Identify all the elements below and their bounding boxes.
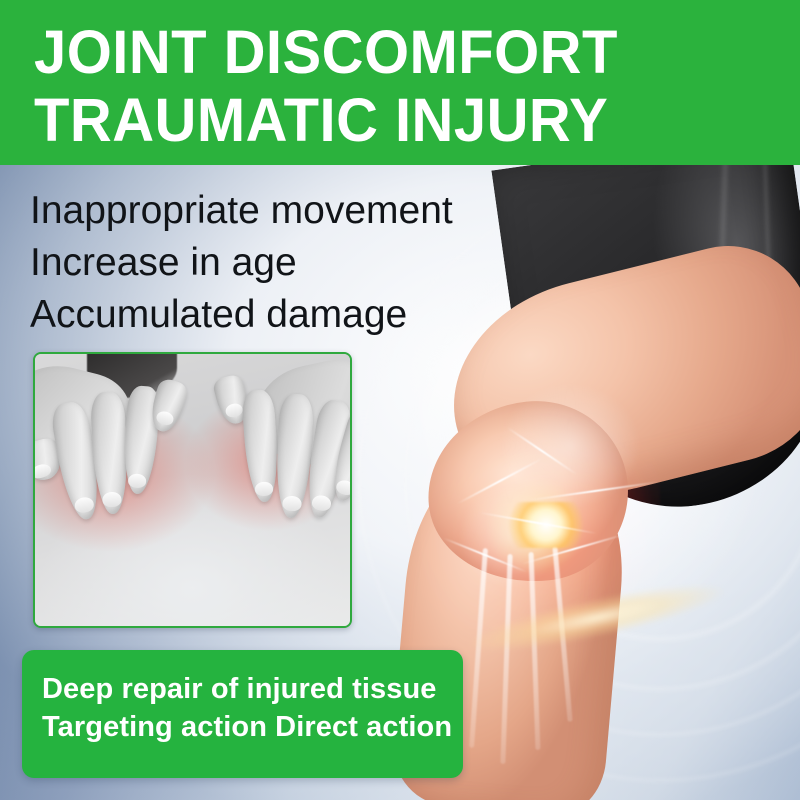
header-banner: JOINT DISCOMFORT TRAUMATIC INJURY bbox=[0, 0, 800, 165]
fingernail bbox=[128, 473, 147, 488]
benefit-line-2: Targeting action Direct action bbox=[42, 713, 452, 742]
fingernail bbox=[155, 410, 175, 427]
cause-list-item: Accumulated damage bbox=[30, 289, 550, 341]
inset-photo-frame bbox=[33, 352, 352, 628]
benefit-line-1: Deep repair of injured tissue bbox=[42, 675, 437, 704]
fingernail bbox=[335, 478, 352, 496]
cause-list: Inappropriate movement Increase in age A… bbox=[30, 185, 550, 341]
benefit-callout-box: Deep repair of injured tissue Targeting … bbox=[22, 650, 463, 778]
fingernail bbox=[74, 496, 95, 514]
finger bbox=[274, 393, 314, 519]
fingernail bbox=[255, 481, 274, 496]
headline-line-1: JOINT DISCOMFORT bbox=[34, 22, 618, 83]
fingernail bbox=[311, 494, 332, 512]
cause-list-item: Inappropriate movement bbox=[30, 185, 550, 237]
fingernail bbox=[224, 402, 244, 419]
headline-line-2: TRAUMATIC INJURY bbox=[34, 90, 608, 151]
back-massage-photo bbox=[35, 354, 350, 626]
fingernail bbox=[102, 491, 122, 507]
cause-list-item: Increase in age bbox=[30, 237, 550, 289]
fingernail bbox=[282, 495, 302, 511]
fingernail bbox=[33, 462, 52, 480]
promotional-poster: JOINT DISCOMFORT TRAUMATIC INJURY Inappr… bbox=[0, 0, 800, 800]
